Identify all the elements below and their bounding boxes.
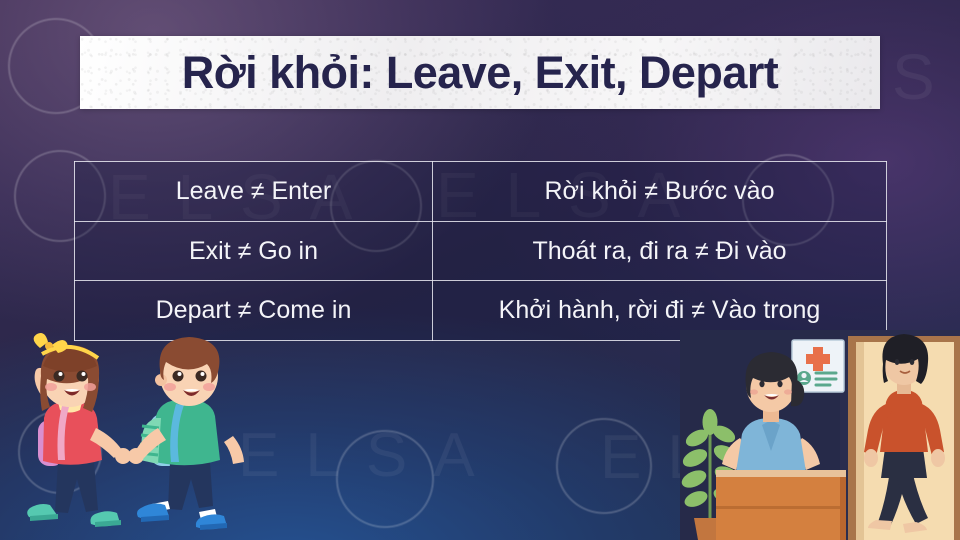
figure-boy-with-backpack [128,337,244,530]
reception-desk [716,470,846,540]
table-cell-vietnamese: Thoát ra, đi ra ≠ Đi vào [433,221,887,281]
page-title: Rời khỏi: Leave, Exit, Depart [182,50,779,95]
slide-canvas: ELSA ELSA ELSA ELSA ELSA Rời khỏi: Leave… [0,0,960,540]
table-row: Leave ≠ Enter Rời khỏi ≠ Bước vào [75,162,887,222]
table-cell-english: Exit ≠ Go in [75,221,433,281]
illustration-clinic-reception [680,330,960,540]
illustration-two-children-walking [0,332,255,540]
vocabulary-table: Leave ≠ Enter Rời khỏi ≠ Bước vào Exit ≠… [74,161,887,341]
table-cell-english: Leave ≠ Enter [75,162,433,222]
table-cell-vietnamese: Rời khỏi ≠ Bước vào [433,162,887,222]
elsa-logo-watermark [336,430,434,528]
title-banner: Rời khỏi: Leave, Exit, Depart [80,36,880,109]
elsa-logo-watermark [556,418,652,514]
figure-girl-with-backpack [27,333,131,527]
table-row: Exit ≠ Go in Thoát ra, đi ra ≠ Đi vào [75,221,887,281]
brand-watermark-text: ELSA [238,420,501,491]
